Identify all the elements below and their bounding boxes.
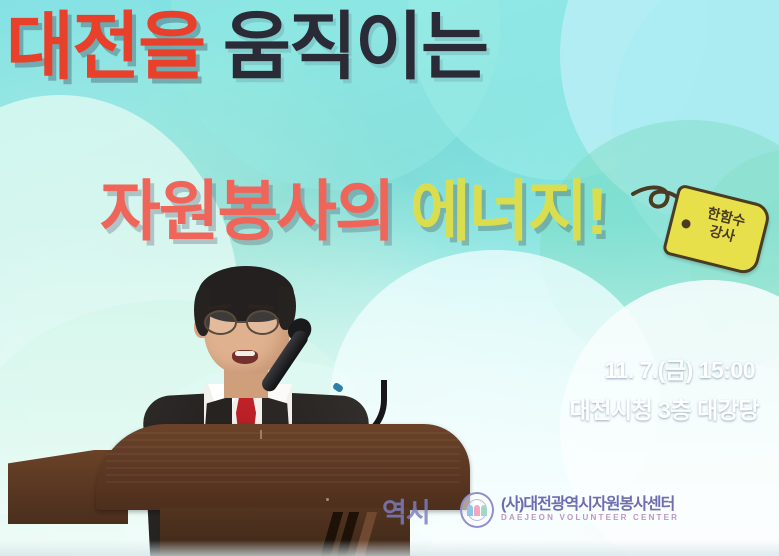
emblem-figure bbox=[467, 505, 473, 516]
lens-right bbox=[246, 310, 279, 335]
stage-floor bbox=[0, 540, 779, 556]
emblem-figure bbox=[481, 505, 487, 516]
speaker-name-tag: 한함수 강사 bbox=[627, 176, 779, 280]
headline-red-text: 대전을 bbox=[6, 5, 204, 88]
event-location-text: 대전시청 3층 대강당 bbox=[558, 388, 771, 430]
photo-stage: 대전을 움직이는 자원봉사의 에너지! 한함수 강사 11. 7.(금) 15:… bbox=[0, 0, 779, 556]
podium-marker bbox=[260, 430, 262, 439]
org-name-english: DAEJEON VOLUNTEER CENTER bbox=[501, 514, 679, 522]
emblem-figure bbox=[474, 505, 480, 516]
headline-salmon-text: 자원봉사의 bbox=[100, 174, 394, 248]
mouth bbox=[232, 350, 258, 364]
event-datetime: 11. 7.(금) 15:00 bbox=[593, 348, 767, 390]
emblem-figures bbox=[467, 505, 487, 516]
headline-lime-text: 에너지! bbox=[410, 174, 606, 248]
footer-logo-row: 역시 (사)대전광역시자원봉사센터 DAEJEON VOLUNTEER CENT… bbox=[0, 488, 779, 542]
volunteer-center-logo: (사)대전광역시자원봉사센터 DAEJEON VOLUNTEER CENTER bbox=[460, 492, 679, 528]
event-location: 대전시청 3층 대강당 bbox=[558, 388, 771, 430]
org-name-korean: (사)대전광역시자원봉사센터 bbox=[501, 497, 679, 514]
banner-headline-line1: 대전을 움직이는 bbox=[6, 10, 646, 84]
volunteer-center-wordmark: (사)대전광역시자원봉사센터 DAEJEON VOLUNTEER CENTER bbox=[501, 497, 679, 522]
city-logo-partial: 역시 bbox=[382, 491, 430, 530]
glasses-bridge bbox=[237, 321, 248, 323]
tag-text-block: 한함수 강사 bbox=[688, 201, 760, 250]
headline-dark-text: 움직이는 bbox=[223, 5, 487, 88]
event-datetime-text: 11. 7.(금) 15:00 bbox=[593, 348, 767, 390]
lens-left bbox=[204, 310, 237, 335]
volunteer-center-emblem-icon bbox=[460, 492, 494, 528]
